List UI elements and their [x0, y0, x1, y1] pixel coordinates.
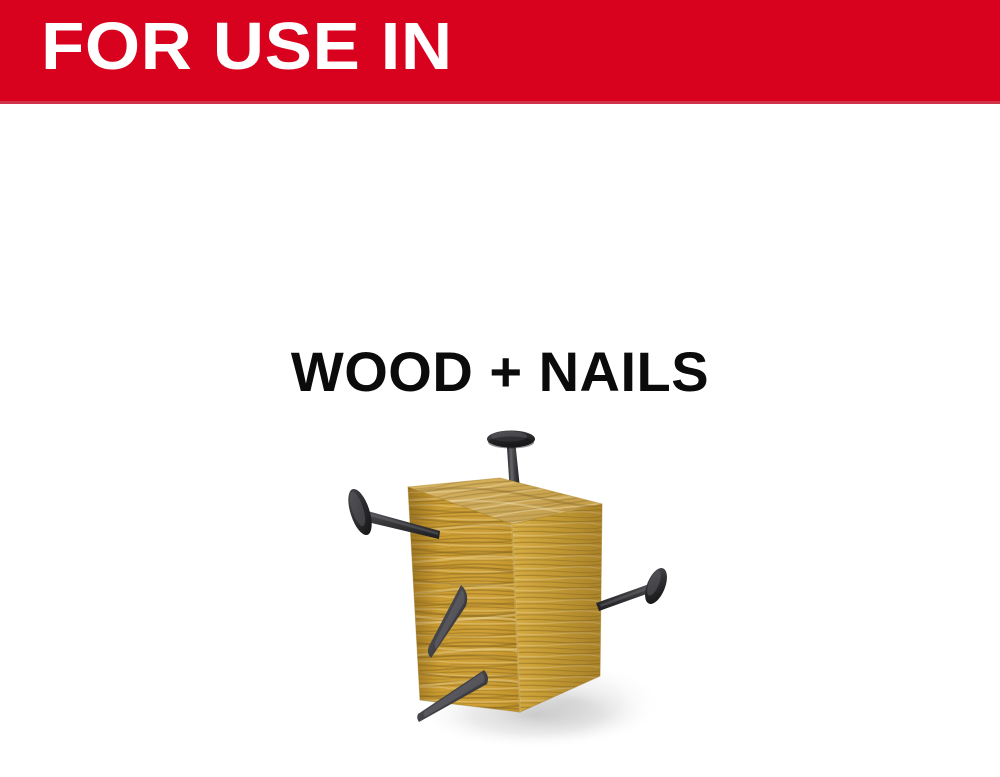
section-title: WOOD + NAILS: [0, 344, 1000, 400]
banner-title: FOR USE IN: [41, 13, 453, 80]
banner-underline: [0, 101, 1000, 104]
header-banner: FOR USE IN: [0, 0, 1000, 101]
nail-right: [596, 565, 670, 611]
wood-block-illustration: [330, 420, 670, 750]
section-title-text: WOOD + NAILS: [291, 344, 709, 400]
wood-block-svg: [330, 420, 670, 750]
